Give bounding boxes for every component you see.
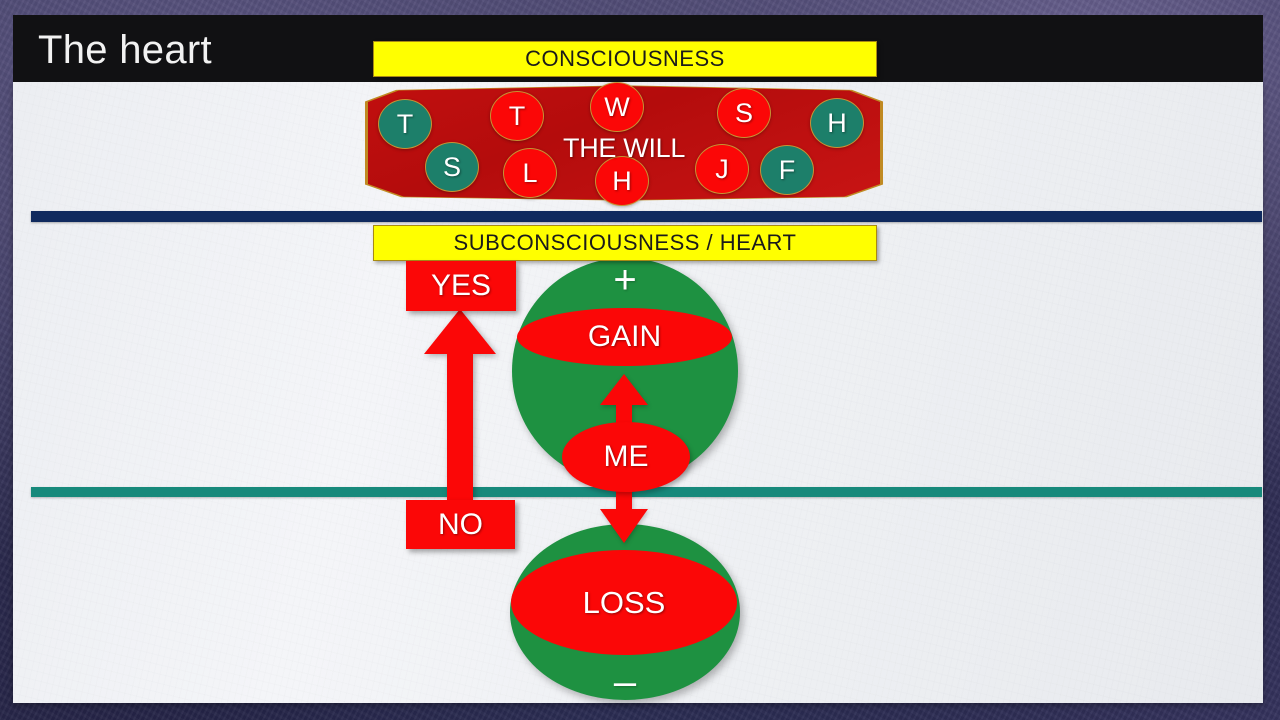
banner-subconsciousness-label: SUBCONSCIOUSNESS / HEART [454,230,797,256]
arrow-down-icon [600,484,648,544]
will-bubble-w-4: W [590,82,644,132]
yes-arrow-icon [424,309,496,500]
will-bubble-letter: J [715,156,729,183]
divider-consciousness-line [31,211,1262,222]
will-bubble-letter: L [522,160,537,187]
slide-root: The heart CONSCIOUSNESS THE WILL SUBCONS… [0,0,1280,720]
banner-consciousness-label: CONSCIOUSNESS [525,46,725,72]
plus-sign-icon: + [600,258,650,302]
will-bubble-f-8: F [760,145,814,195]
minus-sign-icon: – [600,662,650,702]
yes-box: YES [406,261,516,311]
will-bubble-s-1: S [425,142,479,192]
will-bubble-letter: F [779,157,796,184]
will-bubble-letter: H [827,110,847,137]
no-box: NO [406,500,515,549]
will-bubble-t-0: T [378,99,432,149]
will-bubble-letter: S [735,100,753,127]
will-bubble-letter: W [604,94,629,121]
yes-arrow-head [424,309,496,354]
banner-consciousness: CONSCIOUSNESS [373,41,877,77]
will-bubble-letter: S [443,154,461,181]
will-label: THE WILL [563,133,679,164]
will-bubble-letter: T [397,111,414,138]
will-bubble-letter: H [612,168,632,195]
arrow-up-head [600,374,648,405]
page-title: The heart [38,29,212,71]
yes-arrow-shaft [447,353,473,500]
will-bubble-l-3: L [503,148,557,198]
banner-subconsciousness: SUBCONSCIOUSNESS / HEART [373,225,877,261]
arrow-down-head [600,509,648,543]
loss-label: LOSS [511,550,737,655]
will-bubble-j-7: J [695,144,749,194]
me-label: ME [562,422,690,492]
will-bubble-t-2: T [490,91,544,141]
will-bubble-letter: T [509,103,526,130]
will-bubble-s-6: S [717,88,771,138]
will-bubble-h-9: H [810,98,864,148]
gain-label: GAIN [517,308,732,366]
